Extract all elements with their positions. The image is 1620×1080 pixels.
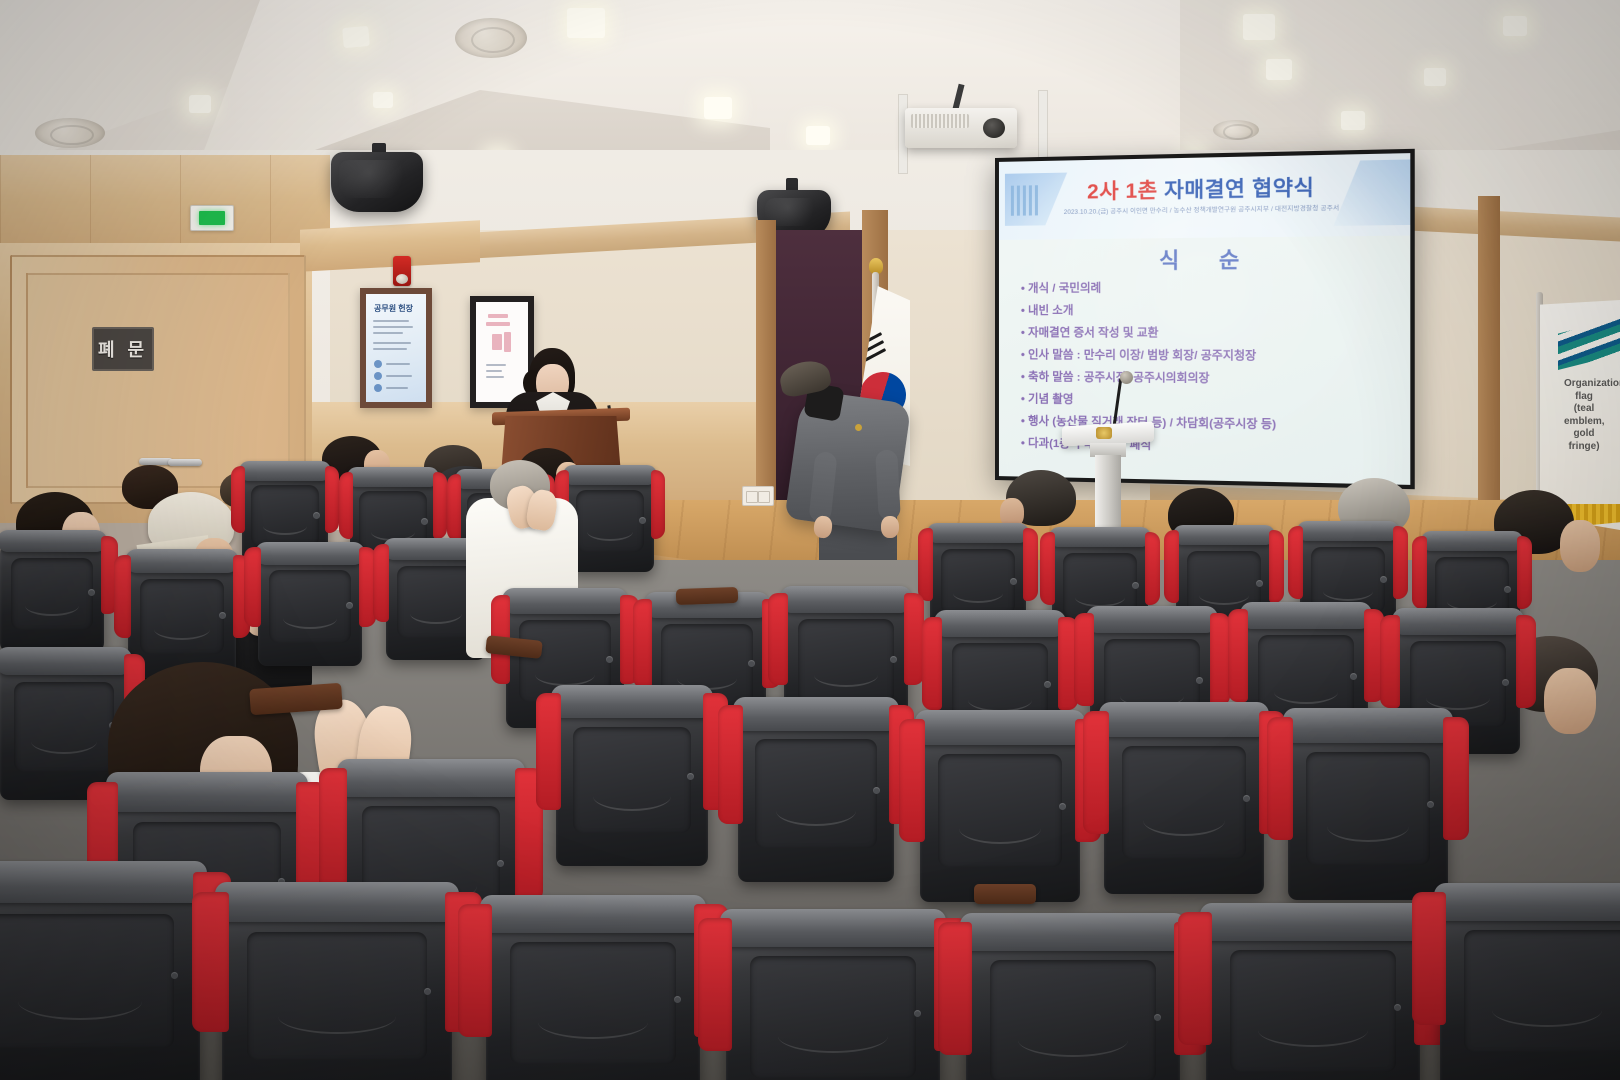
seat-inner-panel — [251, 485, 318, 546]
seat-fabric — [231, 466, 245, 533]
ceiling-light-panel — [806, 126, 830, 145]
seat-contour — [263, 517, 307, 535]
auditorium-seat[interactable] — [222, 900, 452, 1080]
poster-frame-public-servant-charter: 공무원 헌장 — [360, 288, 432, 408]
auditorium-seat[interactable] — [966, 930, 1180, 1080]
seat-headrest — [239, 461, 330, 480]
exit-sign — [190, 205, 234, 231]
auditorium-seat[interactable] — [0, 540, 104, 652]
auditorium-seat[interactable] — [920, 726, 1080, 902]
audience-face — [1544, 668, 1596, 734]
ceiling-light-panel — [567, 8, 605, 38]
bowing-official-hand-right — [881, 516, 899, 538]
auditorium-seat[interactable] — [486, 912, 700, 1080]
projection-screen: 2사 1촌 자매결연 협약식 2023.10.20.(금) 공주시 이인면 만수… — [995, 149, 1415, 489]
poster-content — [476, 302, 528, 402]
poster-heading: 공무원 헌장 — [374, 303, 413, 314]
lapel-badge-icon — [855, 424, 862, 431]
program-item: 개식 / 국민의례 — [1021, 282, 1402, 295]
auditorium-seat[interactable] — [0, 880, 200, 1080]
exit-running-man-icon — [199, 211, 225, 225]
seat-armrest — [676, 587, 739, 605]
auditorium-seat[interactable] — [726, 926, 940, 1080]
ceiling-light-panel — [1266, 59, 1292, 80]
projector-rail — [1038, 90, 1048, 158]
lectern-microphone-icon — [1120, 371, 1133, 384]
stage-wood-column — [1478, 196, 1500, 526]
auditorium-seat[interactable] — [1288, 724, 1448, 900]
ceiling-light-panel — [1341, 111, 1365, 130]
lectern-emblem-icon — [1096, 427, 1112, 439]
bowing-official-arm-right — [875, 449, 901, 520]
door-panel — [26, 273, 290, 488]
seat-armrest — [974, 884, 1036, 904]
stage-wood-column — [756, 220, 776, 520]
program-item: 축하 말씀 : 공주시장, 공주시의회의장 — [1021, 372, 1402, 387]
program-item: 인사 말씀 : 만수리 이장/ 범방 회장/ 공주지청장 — [1021, 350, 1402, 364]
projector-vent — [911, 114, 969, 128]
ceiling-light-panel — [1424, 68, 1446, 86]
auditorium-seat[interactable] — [738, 712, 894, 882]
slide-section-heading: 식 순 — [999, 242, 1410, 276]
slide-title-blue: 자매결연 협약식 — [1164, 176, 1314, 202]
door-handle[interactable] — [168, 459, 202, 466]
program-item: 기념 촬영 — [1021, 394, 1402, 410]
auditorium-seat[interactable] — [1440, 900, 1620, 1080]
auditorium-seat[interactable] — [258, 552, 362, 666]
projection-screen-surface: 2사 1촌 자매결연 협약식 2023.10.20.(금) 공주시 이인면 만수… — [999, 153, 1410, 485]
seat-fabric — [325, 466, 339, 533]
program-item: 내빈 소개 — [1021, 305, 1402, 317]
fire-alarm-icon[interactable] — [393, 256, 411, 286]
ceiling-projector — [905, 108, 1017, 148]
organization-flag-text: Organization flag (teal emblem, gold fri… — [1564, 378, 1604, 453]
ceiling-light-panel — [373, 92, 393, 108]
wall-speaker — [331, 152, 423, 212]
ceiling-vent — [35, 118, 105, 148]
ceiling-light-panel — [1503, 16, 1527, 36]
door-sign-closed: 폐 문 — [92, 327, 154, 371]
ceiling-light-panel — [1243, 14, 1275, 40]
ceiling-vent — [1213, 120, 1259, 140]
audience-face — [1560, 520, 1600, 572]
wall-outlet[interactable] — [742, 486, 774, 506]
program-item: 자매결연 증서 작성 및 교환 — [1021, 328, 1402, 341]
auditorium-seat[interactable] — [1206, 920, 1420, 1080]
auditorium-seat[interactable] — [1104, 718, 1264, 894]
ceiling-light-panel — [189, 95, 211, 113]
slide-title-red: 2사 1촌 — [1087, 179, 1164, 204]
auditorium-seat[interactable] — [556, 700, 708, 866]
auditorium-seat[interactable] — [566, 474, 654, 572]
poster-content: 공무원 헌장 — [366, 294, 426, 402]
organization-emblem-icon — [1558, 318, 1620, 370]
projector-lens-icon — [983, 118, 1005, 138]
auditorium-photo: 폐 문 공무원 헌장 — [0, 0, 1620, 1080]
ceiling-light-panel — [342, 26, 370, 48]
ceiling-vent — [455, 18, 527, 58]
ceiling-light-panel — [704, 97, 732, 119]
